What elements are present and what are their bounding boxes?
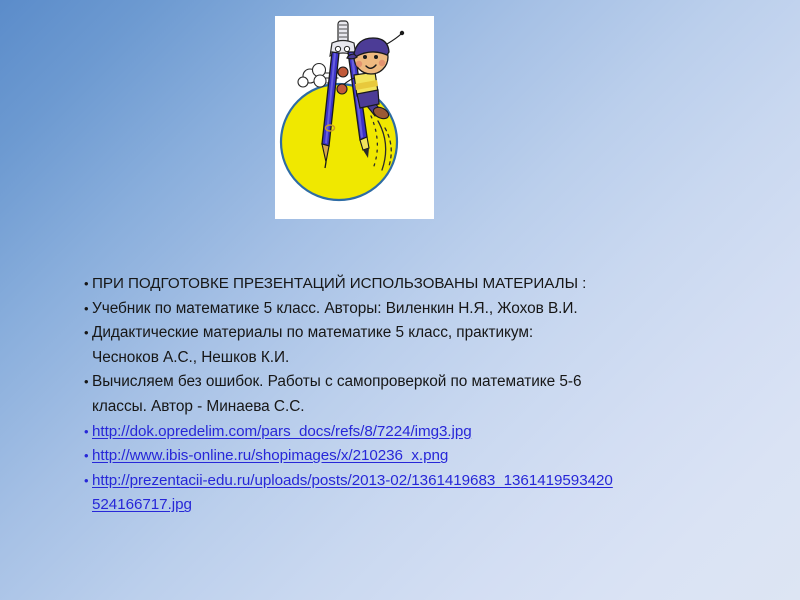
content-line: Дидактические материалы по математике 5 … <box>84 321 744 346</box>
source-link[interactable]: http://prezentacii-edu.ru/uploads/posts/… <box>84 469 744 494</box>
content-line: ПРИ ПОДГОТОВКЕ ПРЕЗЕНТАЦИЙ ИСПОЛЬЗОВАНЫ … <box>84 272 744 297</box>
source-link[interactable]: 524166717.jpg <box>84 493 744 518</box>
content-line: классы. Автор - Минаева С.С. <box>84 395 744 420</box>
content-line: Учебник по математике 5 класс. Авторы: В… <box>84 297 744 322</box>
source-link[interactable]: http://dok.opredelim.com/pars_docs/refs/… <box>84 420 744 445</box>
source-link[interactable]: http://www.ibis-online.ru/shopimages/x/2… <box>84 444 744 469</box>
content-line: Вычисляем без ошибок. Работы с самопрове… <box>84 370 744 395</box>
picture-frame[interactable] <box>275 16 434 219</box>
compass-circle-illustration <box>275 16 434 219</box>
slide-canvas: ПРИ ПОДГОТОВКЕ ПРЕЗЕНТАЦИЙ ИСПОЛЬЗОВАНЫ … <box>0 0 800 600</box>
content-line: Чесноков А.С., Нешков К.И. <box>84 346 744 371</box>
content-text-block: ПРИ ПОДГОТОВКЕ ПРЕЗЕНТАЦИЙ ИСПОЛЬЗОВАНЫ … <box>84 272 744 518</box>
